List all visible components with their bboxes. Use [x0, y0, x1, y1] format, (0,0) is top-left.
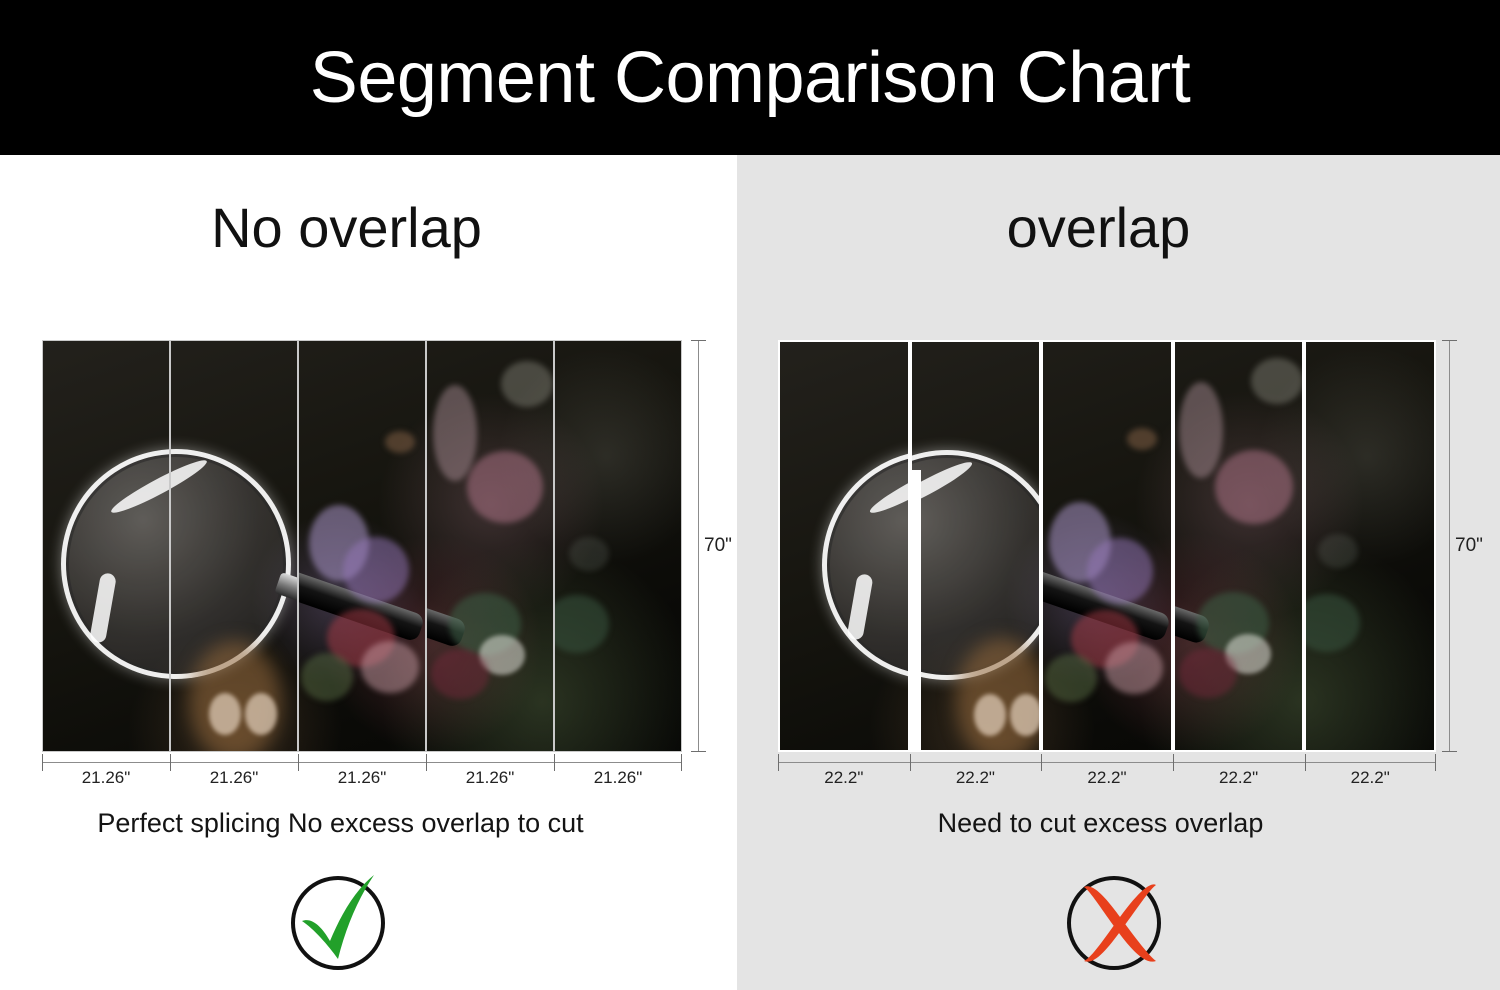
- check-circle-icon: [282, 865, 394, 977]
- dimension-cap-top: [691, 340, 706, 341]
- width-label-segment-2: 21.26": [170, 768, 298, 788]
- width-label-segment-4: 22.2": [1173, 768, 1305, 788]
- artwork-canvas-overlap: [778, 340, 1436, 752]
- width-label-segment-3: 22.2": [1041, 768, 1173, 788]
- comparison-chart-page: Segment Comparison Chart No overlap: [0, 0, 1500, 990]
- segment-5: [554, 340, 682, 752]
- dimension-line-vertical: [1449, 340, 1450, 752]
- title-banner: Segment Comparison Chart: [0, 0, 1500, 155]
- height-dimension-overlap: 70": [1439, 340, 1469, 752]
- cross-circle-icon: [1060, 865, 1172, 977]
- height-dimension-no-overlap: 70": [688, 340, 718, 752]
- dimension-cap-bottom: [1442, 751, 1457, 752]
- dimension-line-horizontal: [778, 762, 1436, 763]
- width-label-segment-5: 21.26": [554, 768, 682, 788]
- segment-1: [778, 340, 910, 752]
- width-label-segment-4: 21.26": [426, 768, 554, 788]
- panel-no-overlap: No overlap: [0, 155, 737, 990]
- artwork-no-overlap: [42, 340, 682, 752]
- height-label-overlap: 70": [1455, 535, 1483, 557]
- width-labels-no-overlap: 21.26" 21.26" 21.26" 21.26" 21.26": [42, 768, 682, 788]
- panel-heading-no-overlap: No overlap: [0, 200, 715, 256]
- width-dimensions-overlap: 22.2" 22.2" 22.2" 22.2" 22.2": [778, 752, 1436, 798]
- segment-4: [1173, 340, 1305, 752]
- artwork-canvas-no-overlap: [42, 340, 682, 752]
- panel-overlap: overlap: [737, 155, 1500, 990]
- segment-2: [910, 340, 1042, 752]
- segment-2: [170, 340, 298, 752]
- panels-container: No overlap: [0, 155, 1500, 990]
- dimension-cap-bottom: [691, 751, 706, 752]
- width-label-segment-2: 22.2": [910, 768, 1042, 788]
- width-labels-overlap: 22.2" 22.2" 22.2" 22.2" 22.2": [778, 768, 1436, 788]
- overlap-seam-flaw: [912, 470, 921, 752]
- width-label-segment-5: 22.2": [1304, 768, 1436, 788]
- segment-5: [1304, 340, 1436, 752]
- width-label-segment-1: 22.2": [778, 768, 910, 788]
- dimension-line-vertical: [698, 340, 699, 752]
- width-label-segment-3: 21.26": [298, 768, 426, 788]
- dimension-line-horizontal: [42, 762, 682, 763]
- width-label-segment-1: 21.26": [42, 768, 170, 788]
- page-title: Segment Comparison Chart: [310, 42, 1190, 114]
- artwork-overlap: [778, 340, 1436, 752]
- segment-4: [426, 340, 554, 752]
- segment-3: [1041, 340, 1173, 752]
- segment-3: [298, 340, 426, 752]
- caption-overlap: Need to cut excess overlap: [719, 810, 1482, 837]
- height-label-no-overlap: 70": [704, 535, 732, 557]
- segment-1: [42, 340, 170, 752]
- panel-heading-overlap: overlap: [717, 200, 1480, 256]
- dimension-cap-top: [1442, 340, 1457, 341]
- width-dimensions-no-overlap: 21.26" 21.26" 21.26" 21.26" 21.26": [42, 752, 682, 798]
- caption-no-overlap: Perfect splicing No excess overlap to cu…: [0, 810, 709, 837]
